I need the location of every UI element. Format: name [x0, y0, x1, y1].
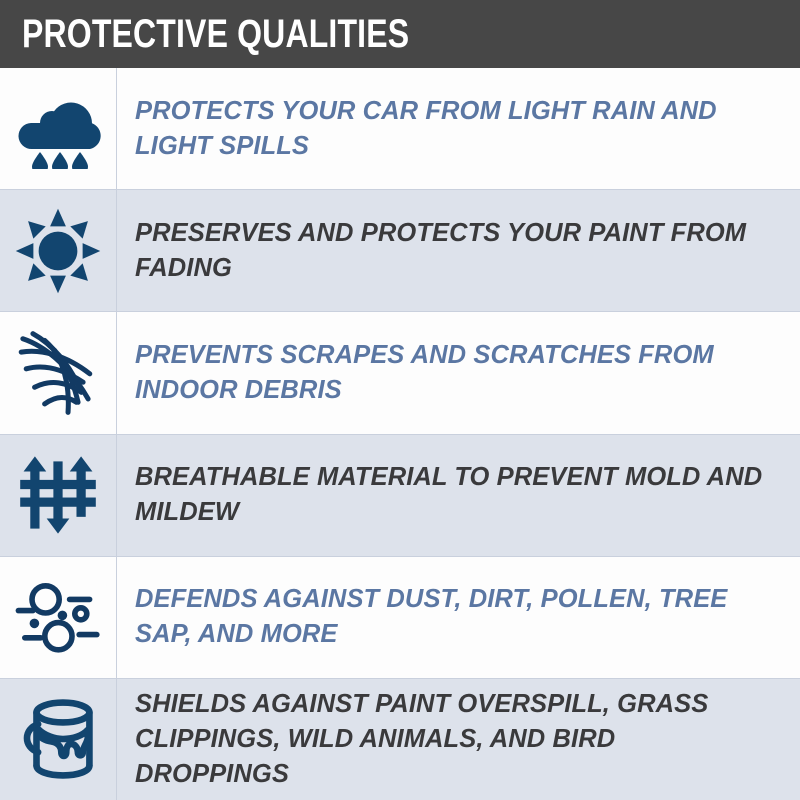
list-item: BREATHABLE MATERIAL TO PREVENT MOLD AND … — [0, 435, 800, 557]
text-cell: BREATHABLE MATERIAL TO PREVENT MOLD AND … — [117, 435, 800, 556]
list-item-label: PROTECTS YOUR CAR FROM LIGHT RAIN AND LI… — [135, 94, 774, 164]
icon-cell — [0, 679, 117, 800]
text-cell: SHIELDS AGAINST PAINT OVERSPILL, GRASS C… — [117, 679, 800, 800]
dust-particles-icon — [12, 577, 104, 657]
list-item-label: PRESERVES AND PROTECTS YOUR PAINT FROM F… — [135, 216, 774, 286]
rain-cloud-icon — [15, 89, 101, 169]
list-item: SHIELDS AGAINST PAINT OVERSPILL, GRASS C… — [0, 679, 800, 800]
list-item: PREVENTS SCRAPES AND SCRATCHES FROM INDO… — [0, 312, 800, 434]
list-item: PROTECTS YOUR CAR FROM LIGHT RAIN AND LI… — [0, 68, 800, 190]
list-item-label: SHIELDS AGAINST PAINT OVERSPILL, GRASS C… — [135, 687, 774, 792]
icon-cell — [0, 312, 117, 433]
list-item-label: PREVENTS SCRAPES AND SCRATCHES FROM INDO… — [135, 338, 774, 408]
text-cell: PREVENTS SCRAPES AND SCRATCHES FROM INDO… — [117, 312, 800, 433]
header-bar: PROTECTIVE QUALITIES — [0, 0, 800, 68]
icon-cell — [0, 557, 117, 678]
icon-cell — [0, 190, 117, 311]
list-item: DEFENDS AGAINST DUST, DIRT, POLLEN, TREE… — [0, 557, 800, 679]
text-cell: PRESERVES AND PROTECTS YOUR PAINT FROM F… — [117, 190, 800, 311]
list-item: PRESERVES AND PROTECTS YOUR PAINT FROM F… — [0, 190, 800, 312]
icon-cell — [0, 68, 117, 189]
sun-icon — [14, 207, 102, 295]
page-title: PROTECTIVE QUALITIES — [22, 14, 409, 54]
list-item-label: DEFENDS AGAINST DUST, DIRT, POLLEN, TREE… — [135, 582, 774, 652]
text-cell: PROTECTS YOUR CAR FROM LIGHT RAIN AND LI… — [117, 68, 800, 189]
paint-can-icon — [16, 696, 100, 782]
text-cell: DEFENDS AGAINST DUST, DIRT, POLLEN, TREE… — [117, 557, 800, 678]
feature-list: PROTECTS YOUR CAR FROM LIGHT RAIN AND LI… — [0, 68, 800, 800]
protective-qualities-infographic: PROTECTIVE QUALITIES PROTEC — [0, 0, 800, 800]
icon-cell — [0, 435, 117, 556]
list-item-label: BREATHABLE MATERIAL TO PREVENT MOLD AND … — [135, 460, 774, 530]
scratch-mesh-icon — [16, 327, 100, 419]
breathable-airflow-icon — [16, 453, 100, 537]
